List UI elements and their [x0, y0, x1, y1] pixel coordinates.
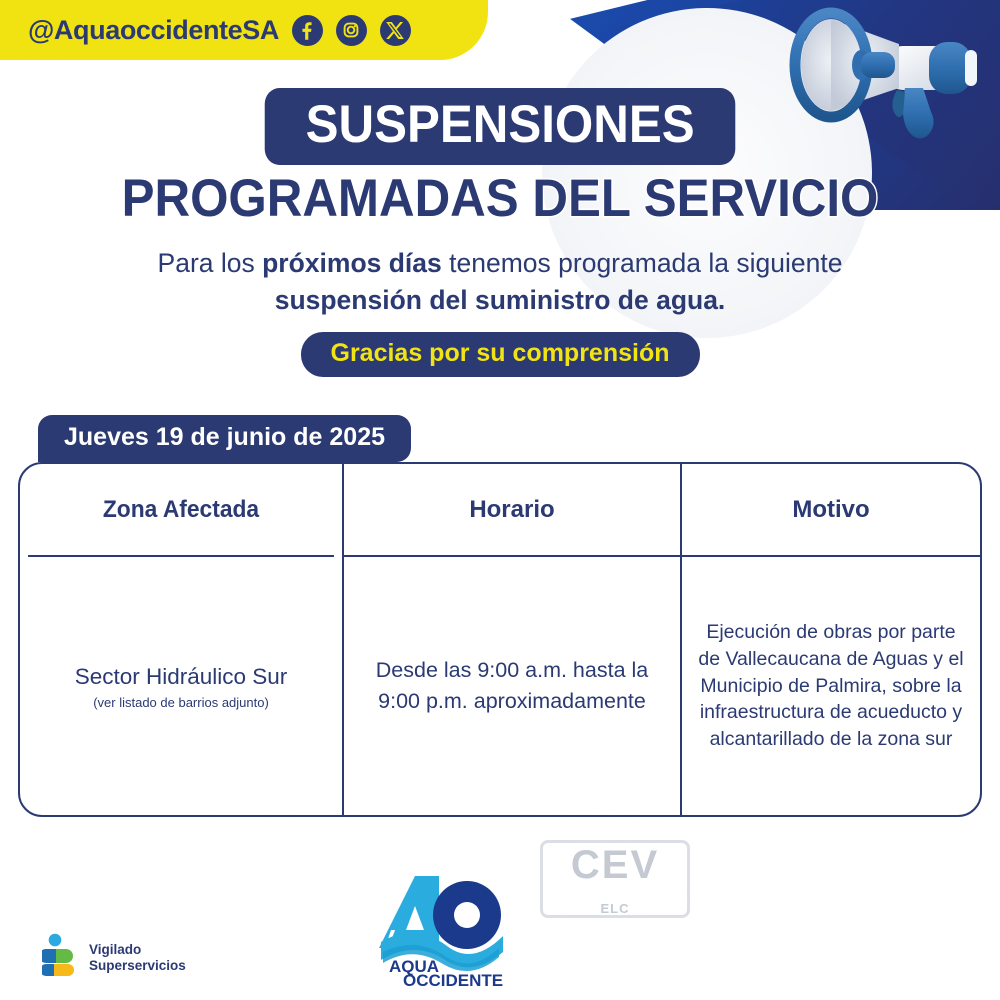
superservicios-line-1: Vigilado: [89, 942, 186, 958]
background-plate-text: CEV: [571, 843, 659, 887]
title-line-2: PROGRAMADAS DEL SERVICIO: [35, 171, 965, 227]
zona-note: (ver listado de barrios adjunto): [93, 695, 269, 710]
superservicios-text: Vigilado Superservicios: [89, 942, 186, 975]
subtitle-part-1: Para los: [158, 248, 263, 278]
social-handle-banner: @AquaoccidenteSA: [0, 0, 488, 60]
background-plate-subtext: ELC: [543, 887, 687, 931]
superservicios-mark-icon: [42, 933, 80, 983]
logo-word-line-2: OCCIDENTE: [403, 971, 503, 987]
vigilado-superservicios-logo: Vigilado Superservicios: [42, 932, 217, 984]
zona-value: Sector Hidráulico Sur: [75, 662, 288, 691]
thanks-badge-text: Gracias por su comprensión: [301, 332, 700, 377]
aqua-occidente-logo: AQUA OCCIDENTE: [375, 872, 515, 987]
page-title: SUSPENSIONES PROGRAMADAS DEL SERVICIO: [0, 88, 1000, 227]
table-cell-motivo: Ejecución de obras por parte de Vallecau…: [682, 557, 980, 815]
table-cell-horario: Desde las 9:00 a.m. hasta la 9:00 p.m. a…: [344, 557, 680, 815]
superservicios-line-2: Superservicios: [89, 958, 186, 974]
table-cell-zona: Sector Hidráulico Sur (ver listado de ba…: [20, 557, 342, 815]
table-column-motivo: Motivo Ejecución de obras por parte de V…: [682, 464, 980, 815]
title-line-1: SUSPENSIONES: [265, 88, 736, 165]
table-header-zona: Zona Afectada: [28, 464, 334, 557]
x-twitter-icon[interactable]: [380, 15, 411, 46]
subtitle-bold-2: suspensión del suministro de agua.: [275, 285, 726, 315]
date-badge: Jueves 19 de junio de 2025: [38, 415, 411, 462]
table-header-horario: Horario: [344, 464, 680, 557]
subtitle-part-2: tenemos programada la siguiente: [442, 248, 843, 278]
subtitle-bold-1: próximos días: [262, 248, 442, 278]
table-column-zona: Zona Afectada Sector Hidráulico Sur (ver…: [20, 464, 342, 815]
background-plate-ghost: CEV ELC: [540, 840, 690, 918]
thanks-badge: Gracias por su comprensión: [0, 332, 1000, 377]
subtitle: Para los próximos días tenemos programad…: [140, 245, 860, 318]
social-handle-text: @AquaoccidenteSA: [28, 15, 279, 46]
motivo-value: Ejecución de obras por parte de Vallecau…: [696, 619, 966, 754]
instagram-icon[interactable]: [336, 15, 367, 46]
facebook-icon[interactable]: [292, 15, 323, 46]
table-header-motivo: Motivo: [682, 464, 980, 557]
table-column-horario: Horario Desde las 9:00 a.m. hasta la 9:0…: [342, 464, 682, 815]
horario-value: Desde las 9:00 a.m. hasta la 9:00 p.m. a…: [358, 655, 666, 716]
suspension-table: Zona Afectada Sector Hidráulico Sur (ver…: [18, 462, 982, 817]
